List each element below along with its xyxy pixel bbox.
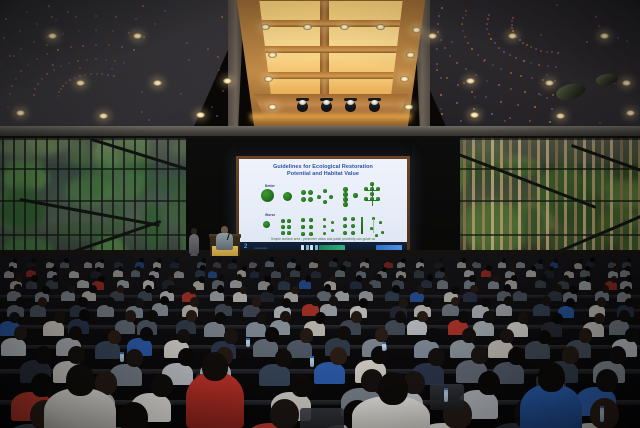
audience-head: [89, 285, 97, 293]
water-bottle: [444, 388, 448, 402]
audience-head: [542, 296, 551, 306]
audience-head: [54, 311, 65, 323]
audience-head: [189, 286, 197, 294]
audience-head: [625, 298, 634, 308]
audience-head: [9, 312, 20, 324]
audience-head: [199, 276, 205, 283]
audience-head: [31, 258, 36, 263]
audience-head: [552, 313, 563, 325]
audience-head: [342, 285, 350, 293]
audience-head: [340, 265, 345, 271]
audience-shoulders: [314, 362, 345, 385]
window-foliage: [80, 159, 111, 196]
patch-better-satellite: [353, 193, 358, 198]
audience-head: [88, 258, 93, 263]
audience-head: [330, 276, 336, 283]
audience-shoulders: [228, 263, 237, 269]
audience-shoulders: [574, 263, 583, 269]
recessed-downlight: [622, 80, 631, 86]
coffer-slat: [258, 0, 404, 1]
patch-worse-column: [323, 225, 326, 228]
audience-head: [9, 266, 14, 272]
audience-head: [305, 275, 311, 282]
water-bottle: [382, 342, 386, 351]
audience-seating: [0, 256, 640, 428]
audience-head: [255, 266, 260, 272]
recessed-downlight: [626, 110, 635, 116]
recessed-downlight: [16, 110, 25, 116]
patch-better-network-node: [364, 197, 368, 201]
audience-head: [389, 258, 394, 263]
slide-title-line2: Potential and Habitat Value: [239, 171, 407, 178]
audience-head: [240, 286, 248, 294]
patch-worse-scatter: [287, 231, 291, 235]
water-bottle: [246, 338, 250, 347]
audience-head: [510, 266, 515, 272]
audience-head: [420, 258, 425, 263]
audience-head: [42, 286, 50, 294]
audience-head: [585, 276, 591, 283]
patch-worse-pair: [343, 217, 347, 221]
audience-head: [16, 275, 22, 282]
audience-head: [119, 402, 148, 428]
audience-shoulders: [43, 321, 64, 336]
audience-head: [147, 310, 158, 322]
audience-head: [356, 275, 362, 282]
audience-head: [382, 267, 387, 273]
patch-worse-scatter: [281, 225, 285, 229]
audience-head: [462, 328, 476, 342]
audience-head: [378, 372, 408, 405]
audience-head: [74, 266, 79, 272]
patch-worse-strip: [361, 217, 363, 234]
audience-head: [399, 298, 408, 308]
patch-better-network-node: [370, 192, 374, 196]
audience-head: [538, 362, 565, 392]
audience-head: [458, 311, 469, 323]
patch-worse-small: [263, 221, 270, 228]
audience-head: [316, 267, 321, 273]
audience-head: [218, 275, 224, 282]
audience-head: [333, 258, 338, 263]
slide-label-better: Better: [265, 184, 275, 188]
patch-better-large: [261, 189, 274, 202]
audience-head: [123, 274, 129, 281]
speaker-at-podium: [216, 226, 233, 252]
audience-head: [538, 330, 552, 344]
audience-shoulders: [77, 280, 89, 289]
patch-better-cluster: [301, 197, 306, 202]
audience-head: [566, 298, 575, 308]
audience-head: [38, 297, 47, 307]
audience-head: [14, 326, 28, 340]
audience-head: [590, 257, 595, 262]
audience-head: [224, 329, 238, 343]
audience-head: [502, 258, 507, 263]
recessed-downlight: [466, 78, 475, 84]
recessed-downlight: [223, 78, 232, 84]
slide-title-line1: Guidelines for Ecological Restoration: [239, 164, 407, 171]
audience-head: [611, 276, 617, 283]
audience-head: [31, 275, 37, 282]
audience-head: [626, 275, 632, 282]
audience-head: [417, 286, 425, 294]
recessed-downlight: [153, 80, 162, 86]
recessed-downlight: [508, 33, 517, 39]
water-bottle: [310, 356, 314, 367]
audience-head: [79, 309, 90, 321]
audience-head: [96, 267, 101, 273]
audience-head: [613, 266, 618, 272]
audience-head: [417, 311, 428, 323]
audience-head: [518, 312, 529, 324]
audience-head: [117, 285, 125, 293]
patch-better-network-node: [370, 187, 374, 191]
audience-head: [160, 296, 169, 306]
audience-head: [549, 266, 554, 272]
audience-head: [236, 274, 242, 281]
patch-worse-column: [323, 232, 326, 235]
audience-head: [478, 371, 500, 394]
ceiling-star-dot: [211, 106, 213, 108]
bottle-cap-icon: [444, 388, 448, 390]
audience-head: [612, 258, 617, 263]
audience-head: [148, 275, 154, 282]
audience-head: [470, 285, 478, 293]
audience-head: [68, 285, 76, 293]
audience-head: [398, 275, 404, 282]
patch-worse-grid: [309, 232, 313, 236]
audience-head: [337, 326, 351, 340]
audience-head: [217, 285, 225, 293]
audience-head: [83, 274, 89, 281]
audience-head: [483, 311, 494, 323]
audience-head: [511, 275, 517, 282]
audience-head: [167, 285, 175, 293]
audience-head: [50, 259, 55, 264]
audience-head: [200, 265, 205, 271]
audience-head: [578, 259, 583, 264]
audience-shoulders: [1, 338, 26, 356]
audience-head: [469, 275, 475, 282]
audience-head: [324, 284, 332, 292]
audience-head: [594, 313, 605, 325]
audience-head: [351, 311, 362, 323]
patch-better-triangle: [329, 195, 333, 199]
audience-head: [52, 266, 57, 272]
audience-shoulders: [457, 262, 466, 268]
spotlight-lens: [371, 100, 378, 105]
audience-shoulders: [437, 280, 449, 289]
audience-head: [329, 296, 338, 306]
audience-shoulders: [311, 271, 321, 278]
audience-shoulders: [335, 270, 345, 277]
patch-better-network-node: [376, 187, 380, 191]
audience-head: [178, 348, 195, 366]
audience-head: [275, 349, 292, 367]
audience-head: [126, 349, 143, 367]
audience-head: [140, 327, 154, 341]
audience-head: [562, 346, 579, 364]
patch-worse-pair: [351, 224, 355, 228]
audience-head: [252, 297, 261, 307]
audience-head: [265, 327, 279, 341]
audience-head: [625, 266, 630, 272]
patch-better-cluster: [308, 197, 313, 202]
audience-head: [597, 297, 606, 307]
coffer-slat: [258, 46, 404, 53]
audience-head: [520, 285, 528, 293]
audience-head: [359, 298, 368, 308]
audience-head: [428, 348, 445, 366]
audience-head: [264, 276, 270, 283]
audience-head: [462, 258, 467, 263]
patch-worse-grid: [301, 218, 305, 222]
audience-head: [602, 285, 610, 293]
audience-shoulders: [174, 271, 184, 278]
audience-shoulders: [579, 281, 591, 290]
audience-head: [427, 274, 433, 281]
audience-head: [419, 266, 424, 272]
audience-head: [375, 274, 381, 281]
recessed-downlight: [48, 33, 57, 39]
audience-head: [401, 258, 406, 263]
recessed-downlight: [99, 113, 108, 119]
audience-head: [119, 258, 124, 263]
speaker-torso: [216, 233, 233, 250]
audience-head: [300, 328, 314, 342]
audience-head: [64, 258, 69, 263]
audience-head: [253, 258, 258, 263]
spotlight-lens: [347, 100, 354, 105]
audience-head: [375, 328, 389, 342]
patch-better-triangle: [323, 200, 327, 204]
audience-head: [68, 346, 85, 364]
audience-head: [215, 312, 226, 324]
audience-shoulders: [95, 341, 120, 359]
patch-worse-scatter: [281, 219, 285, 223]
audience-head: [538, 259, 543, 264]
audience-head: [531, 266, 536, 272]
audience-head: [619, 310, 630, 322]
audience-head: [291, 286, 299, 294]
audience-head: [78, 297, 87, 307]
recessed-downlight: [340, 24, 349, 30]
bottle-cap-icon: [310, 356, 314, 358]
ceiling-star-dot: [222, 90, 224, 92]
patch-worse-fragment: [381, 231, 384, 234]
photo-scene: Guidelines for Ecological Restoration Po…: [0, 0, 640, 428]
coffer-skylight: [258, 0, 404, 96]
audience-head: [151, 374, 173, 397]
audience-head: [267, 285, 275, 293]
audience-head: [579, 328, 593, 342]
audience-head: [202, 258, 207, 263]
audience-head: [242, 266, 247, 272]
audience-head: [330, 347, 347, 365]
audience-head: [440, 267, 445, 273]
audience-shoulders: [208, 271, 218, 278]
audience-head: [508, 347, 525, 365]
audience-head: [451, 286, 459, 294]
audience-head: [471, 346, 488, 364]
patch-better-network-node: [370, 197, 374, 201]
audience-head: [291, 374, 313, 397]
audience-head: [481, 298, 490, 308]
audience-head: [177, 329, 191, 343]
audience-shoulders: [246, 322, 267, 337]
slide-title: Guidelines for Ecological Restoration Po…: [239, 159, 407, 177]
bottle-cap-icon: [600, 406, 604, 408]
ceiling-panel-left: [0, 0, 250, 140]
patch-worse-pair: [351, 217, 355, 221]
audience-head: [493, 275, 499, 282]
patch-worse-pair: [343, 224, 347, 228]
patch-better-network-node: [364, 187, 368, 191]
audience-head: [451, 297, 460, 307]
audience-head: [366, 284, 374, 292]
audience-head: [125, 310, 136, 322]
window-mullion-horizontal: [0, 168, 196, 170]
audience-head: [624, 286, 632, 294]
audience-head: [439, 258, 444, 263]
audience-head: [31, 266, 36, 272]
audience-head: [106, 297, 115, 307]
stage-backdrop-top: [236, 138, 412, 156]
audience-head: [135, 298, 144, 308]
projection-screen: Guidelines for Ecological Restoration Po…: [239, 159, 407, 253]
audience-shoulders: [26, 281, 38, 290]
audience-head: [569, 266, 574, 272]
audience-head: [295, 265, 300, 271]
audience-head: [596, 369, 618, 392]
audience-head: [563, 275, 569, 282]
audience-shoulders: [442, 304, 459, 316]
audience-head: [282, 298, 291, 308]
audience-shoulders: [414, 270, 424, 277]
audience-shoulders: [278, 281, 290, 290]
audience-head: [443, 275, 449, 282]
audience-head: [69, 326, 83, 340]
audience-head: [585, 266, 590, 272]
audience-head: [276, 267, 281, 273]
audience-head: [540, 274, 546, 281]
audience-head: [31, 373, 53, 396]
recessed-downlight: [428, 33, 437, 39]
recessed-downlight: [261, 24, 270, 30]
audience-head: [347, 258, 352, 263]
presenter-torso: [189, 234, 199, 254]
audience-head: [157, 258, 162, 263]
recessed-downlight: [264, 76, 273, 82]
recessed-downlight: [470, 112, 479, 118]
slide-label-worse: Worse: [265, 213, 275, 217]
audience-head: [118, 266, 123, 272]
slide-caption: Simple surface area : perimeter ratios a…: [239, 237, 407, 241]
audience-head: [66, 364, 95, 396]
stage-spotlight: [345, 98, 356, 112]
recessed-downlight: [268, 104, 277, 110]
audience-head: [426, 328, 440, 342]
audience-head: [625, 328, 639, 342]
patch-worse-pair: [343, 231, 347, 235]
audience-head: [186, 310, 197, 322]
stage-spotlight: [369, 98, 380, 112]
audience-head: [313, 258, 318, 263]
audience-head: [13, 258, 18, 263]
audience-shoulders: [204, 322, 225, 337]
bottle-cap-icon: [120, 352, 124, 354]
audience-head: [555, 284, 563, 292]
audience-head: [14, 284, 22, 292]
audience-head: [401, 267, 406, 273]
audience-head: [168, 275, 174, 282]
window-mullion-horizontal: [452, 234, 640, 236]
patch-worse-fragment: [379, 221, 382, 224]
audience-head: [224, 296, 233, 306]
projection-screen-frame: Guidelines for Ecological Restoration Po…: [236, 156, 410, 256]
audience-shoulders: [407, 320, 428, 335]
recessed-downlight: [404, 104, 413, 110]
patch-link: [345, 189, 346, 204]
audience-shoulders: [350, 281, 362, 290]
audience-head: [175, 258, 180, 263]
patch-worse-pair: [351, 231, 355, 235]
water-bottle: [600, 406, 604, 422]
stage-spotlight: [321, 98, 332, 112]
audience-shoulders: [271, 271, 281, 278]
patch-better-network-node: [370, 182, 374, 186]
audience-head: [392, 285, 400, 293]
audience-head: [98, 276, 104, 283]
patch-worse-scatter: [287, 219, 291, 223]
audience-head: [217, 258, 222, 263]
audience-head: [365, 258, 370, 263]
recessed-downlight: [376, 24, 385, 30]
audience-shoulders: [329, 261, 338, 267]
recessed-downlight: [545, 80, 554, 86]
recessed-downlight: [76, 80, 85, 86]
audience-shoulders: [259, 364, 290, 387]
patch-worse-column: [323, 218, 326, 221]
patch-better-medium: [283, 192, 292, 201]
audience-head: [212, 267, 217, 273]
audience-head: [570, 286, 578, 294]
audience-shoulders: [265, 261, 274, 267]
window-mullion-horizontal: [0, 234, 196, 236]
audience-head: [139, 258, 144, 263]
audience-head: [609, 346, 626, 364]
audience-head: [476, 258, 481, 263]
audience-head: [486, 265, 491, 271]
audience-head: [291, 258, 296, 263]
audience-head: [190, 297, 199, 307]
audience-head: [627, 258, 632, 263]
audience-head: [504, 284, 512, 292]
patch-worse-grid: [309, 225, 313, 229]
recessed-downlight: [133, 33, 142, 39]
audience-head: [232, 259, 237, 264]
recessed-downlight: [556, 113, 565, 119]
patch-worse-grid: [301, 225, 305, 229]
audience-head: [315, 312, 326, 324]
audience-head: [280, 311, 291, 323]
audience-shoulders: [290, 270, 300, 277]
audience-head: [256, 312, 267, 324]
audience-head: [554, 258, 559, 263]
window-mullion-horizontal: [452, 200, 640, 202]
audience-head: [311, 297, 320, 307]
